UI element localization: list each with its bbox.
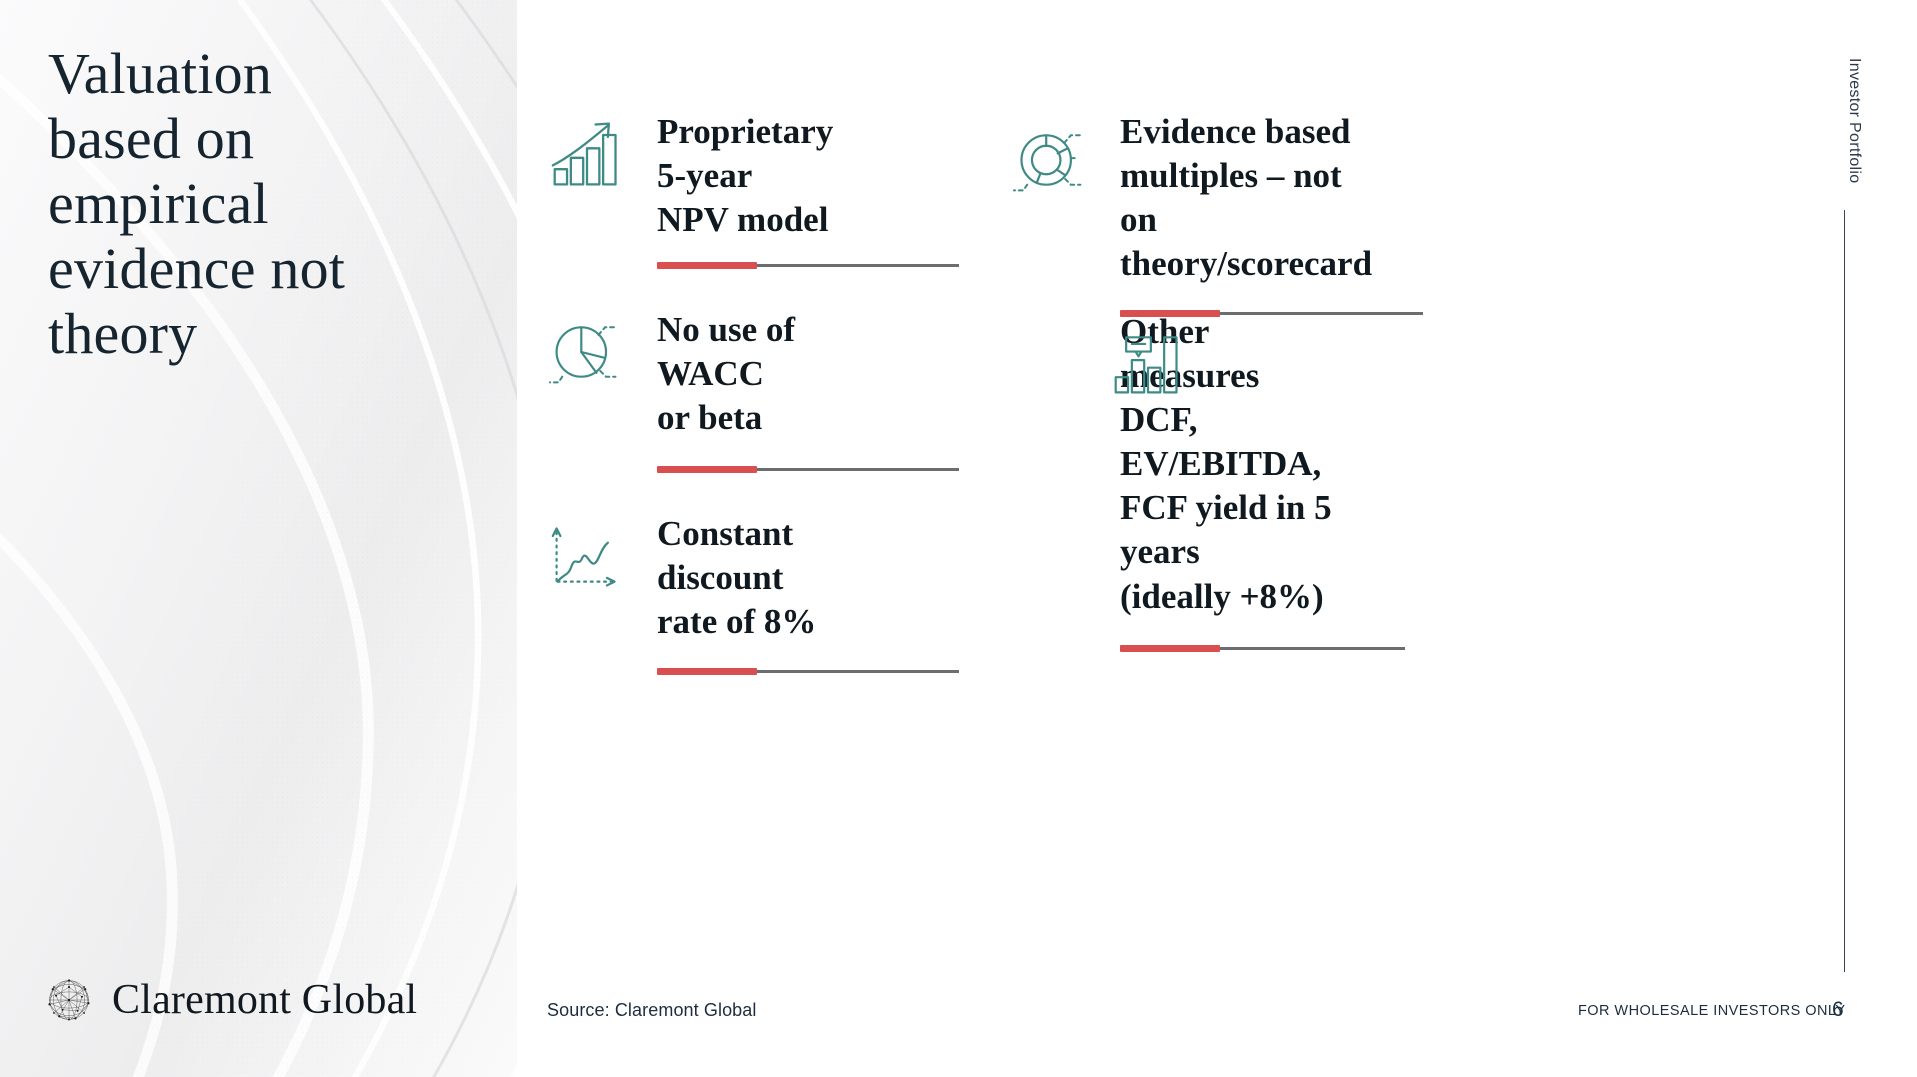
line-chart-icon — [549, 518, 625, 594]
block-divider — [1120, 647, 1405, 650]
page-title: Valuation based on empirical evidence no… — [48, 42, 448, 367]
content-block-discount-rate: Constant discount rate of 8% — [549, 512, 859, 673]
brand-logo: Claremont Global — [42, 973, 417, 1027]
side-vertical-rule — [1844, 210, 1845, 972]
content-block-other-measures: Other measures DCF, EV/EBITDA, FCF yield… — [1012, 310, 1342, 650]
content-block-label: No use of WACC or beta — [657, 308, 859, 440]
donut-chart-icon — [1012, 122, 1088, 198]
content-block-no-wacc-beta: No use of WACC or beta — [549, 308, 859, 471]
content-block-evidence-multiples: Evidence based multiples – not on theory… — [1012, 110, 1332, 315]
bar-chart-growth-arrow-icon — [549, 116, 625, 192]
block-divider — [657, 670, 959, 673]
network-sphere-icon — [42, 973, 96, 1027]
page-number: 6 — [1832, 998, 1844, 1022]
disclaimer-text: FOR WHOLESALE INVESTORS ONLY — [1578, 1003, 1845, 1019]
content-block-npv-model: Proprietary 5-year NPV model — [549, 110, 859, 267]
content-block-label: Evidence based multiples – not on theory… — [1120, 110, 1372, 286]
side-section-label: Investor Portfolio — [1845, 58, 1863, 183]
bar-chart-tooltip-icon — [1110, 324, 1186, 400]
content-block-label: Constant discount rate of 8% — [657, 512, 859, 644]
brand-logo-text: Claremont Global — [112, 976, 417, 1024]
block-divider — [657, 264, 959, 267]
slide-root: Valuation based on empirical evidence no… — [0, 0, 1917, 1077]
block-divider — [657, 468, 959, 471]
content-block-label: Proprietary 5-year NPV model — [657, 110, 859, 242]
source-note: Source: Claremont Global — [547, 1000, 757, 1021]
pie-chart-icon — [549, 314, 625, 390]
